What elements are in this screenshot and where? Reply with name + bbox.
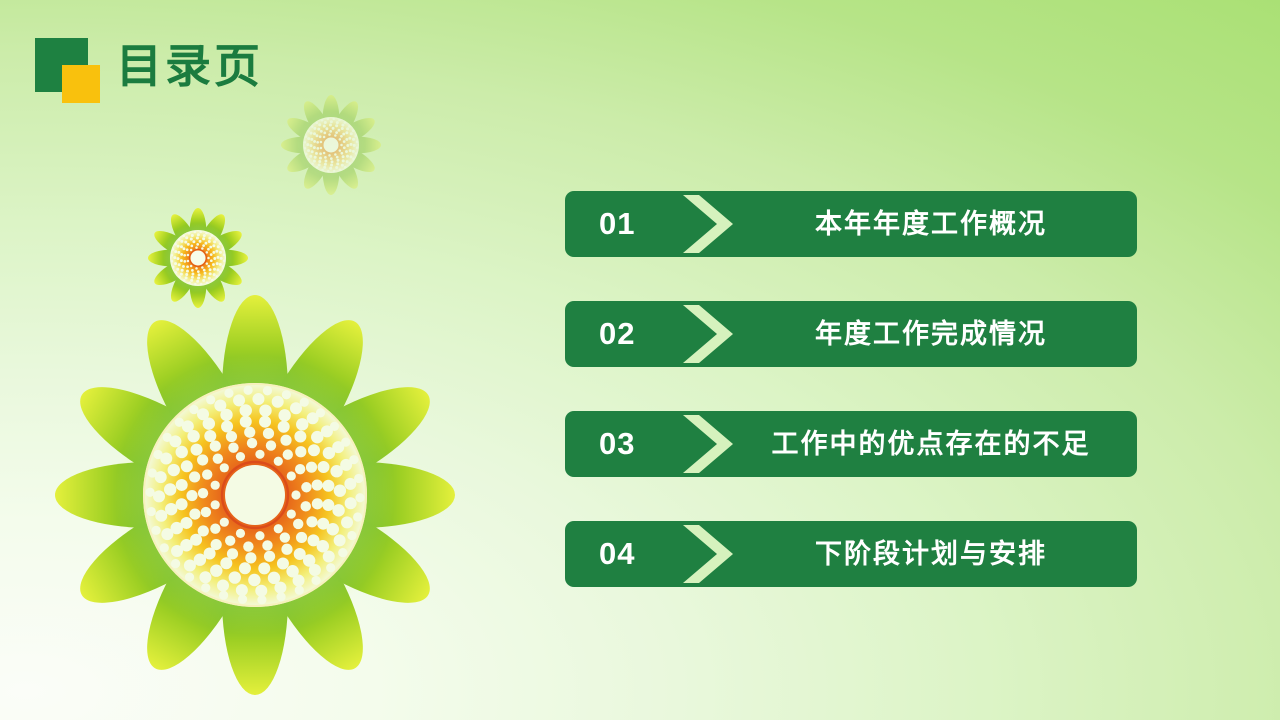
agenda-label: 本年年度工作概况 xyxy=(725,191,1137,257)
logo-yellow-square xyxy=(62,65,100,103)
agenda-item-01[interactable]: 01 本年年度工作概况 xyxy=(565,191,1137,257)
sunflower-medium-icon xyxy=(148,208,248,308)
agenda-item-04[interactable]: 04 下阶段计划与安排 xyxy=(565,521,1137,587)
slide-canvas: 目录页 01 本年年度工作概况 02 年度工作完成情况 03 xyxy=(0,0,1280,720)
agenda-label: 工作中的优点存在的不足 xyxy=(725,411,1137,477)
page-title: 目录页 xyxy=(116,38,263,94)
agenda-item-02[interactable]: 02 年度工作完成情况 xyxy=(565,301,1137,367)
agenda-label: 下阶段计划与安排 xyxy=(725,521,1137,587)
agenda-label: 年度工作完成情况 xyxy=(725,301,1137,367)
logo-mark xyxy=(35,38,101,104)
sunflower-large-icon xyxy=(55,295,455,695)
agenda-number: 02 xyxy=(599,301,635,367)
sunflower-small-icon xyxy=(281,95,381,195)
agenda-number: 03 xyxy=(599,411,635,477)
agenda-number: 01 xyxy=(599,191,635,257)
agenda-list: 01 本年年度工作概况 02 年度工作完成情况 03 xyxy=(565,191,1137,587)
agenda-number: 04 xyxy=(599,521,635,587)
agenda-item-03[interactable]: 03 工作中的优点存在的不足 xyxy=(565,411,1137,477)
